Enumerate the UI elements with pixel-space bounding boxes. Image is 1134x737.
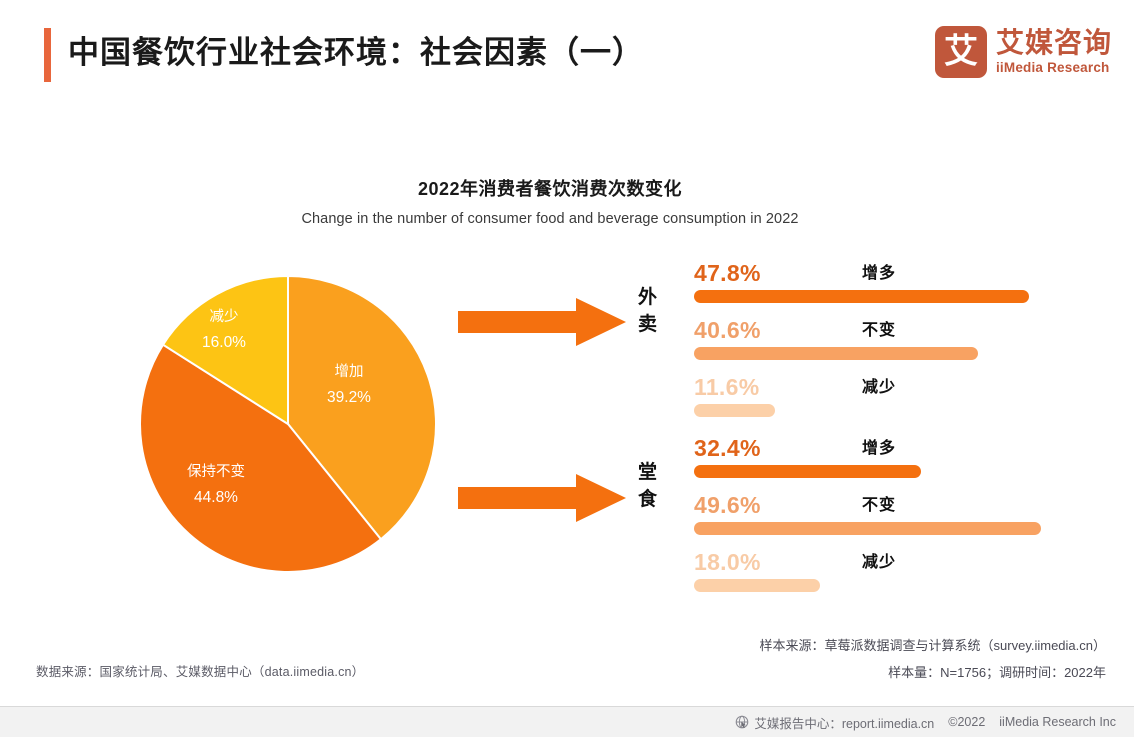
bar-value: 11.6% — [694, 372, 759, 402]
bar-group-takeout-label: 外卖 — [630, 284, 666, 338]
bar-fill — [694, 579, 820, 592]
copyright-year: ©2022 — [948, 715, 985, 729]
bar-value: 47.8% — [694, 258, 761, 288]
bar-row: 49.6% 不变 — [694, 490, 1044, 547]
bar-track — [694, 290, 1044, 303]
report-center-link[interactable]: 艾媒报告中心：report.iimedia.cn — [754, 713, 934, 732]
page-title: 中国餐饮行业社会环境：社会因素（一） — [68, 30, 644, 76]
bar-category-label: 不变 — [862, 317, 896, 345]
pie-chart: 增加 39.2% 保持不变 44.8% 减少 16.0% — [139, 275, 437, 573]
bar-category-label: 减少 — [862, 374, 896, 402]
logo-name-cn: 艾媒咨询 — [996, 29, 1112, 57]
bar-group-dinein-bars: 32.4% 增多 49.6% 不变 18.0% 减少 — [694, 433, 1044, 604]
arrow-right-icon-dinein — [458, 472, 626, 524]
globe-icon — [735, 715, 749, 729]
bar-row: 18.0% 减少 — [694, 547, 1044, 604]
bar-group-dinein-label: 堂食 — [630, 459, 666, 513]
bar-fill — [694, 347, 978, 360]
bar-value: 32.4% — [694, 433, 761, 463]
pie-chart-svg — [139, 275, 437, 573]
chart-title: 2022年消费者餐饮消费次数变化 — [0, 175, 1100, 201]
sample-size-line: 样本量：N=1756；调研时间：2022年 — [760, 659, 1106, 686]
footer-bar: 艾媒报告中心：report.iimedia.cn ©2022 iiMedia R… — [0, 706, 1134, 737]
title-accent-bar — [44, 28, 51, 82]
data-source-note: 数据来源：国家统计局、艾媒数据中心（data.iimedia.cn） — [36, 661, 364, 680]
page-header: 中国餐饮行业社会环境：社会因素（一） 艾 艾媒咨询 iiMedia Resear… — [0, 0, 1134, 110]
bar-row: 40.6% 不变 — [694, 315, 1044, 372]
logo-name-en: iiMedia Research — [996, 61, 1112, 75]
bar-track — [694, 347, 1044, 360]
bar-fill — [694, 465, 921, 478]
bar-fill — [694, 290, 1029, 303]
logo-mark-glyph: 艾 — [935, 34, 987, 68]
bar-fill — [694, 522, 1041, 535]
bar-value: 18.0% — [694, 547, 761, 577]
bar-category-label: 增多 — [862, 435, 896, 463]
bar-track — [694, 404, 1044, 417]
bar-fill — [694, 404, 775, 417]
company-name: iiMedia Research Inc — [999, 715, 1116, 729]
bar-value: 49.6% — [694, 490, 761, 520]
bar-track — [694, 522, 1044, 535]
bar-category-label: 不变 — [862, 492, 896, 520]
bar-row: 47.8% 增多 — [694, 258, 1044, 315]
logo-mark-icon: 艾 — [935, 26, 987, 78]
arrow-right-icon-takeout — [458, 296, 626, 348]
bar-value: 40.6% — [694, 315, 761, 345]
bar-group-takeout-bars: 47.8% 增多 40.6% 不变 11.6% 减少 — [694, 258, 1044, 429]
sample-source-line: 样本来源：草莓派数据调查与计算系统（survey.iimedia.cn） — [760, 632, 1106, 659]
bar-category-label: 增多 — [862, 260, 896, 288]
bar-row: 32.4% 增多 — [694, 433, 1044, 490]
bar-row: 11.6% 减少 — [694, 372, 1044, 429]
bar-track — [694, 579, 1044, 592]
bar-track — [694, 465, 1044, 478]
brand-logo: 艾 艾媒咨询 iiMedia Research — [935, 26, 1112, 78]
sample-source-note: 样本来源：草莓派数据调查与计算系统（survey.iimedia.cn） 样本量… — [760, 632, 1106, 686]
chart-subtitle: Change in the number of consumer food an… — [0, 211, 1100, 227]
bar-category-label: 减少 — [862, 549, 896, 577]
logo-text: 艾媒咨询 iiMedia Research — [996, 29, 1112, 75]
